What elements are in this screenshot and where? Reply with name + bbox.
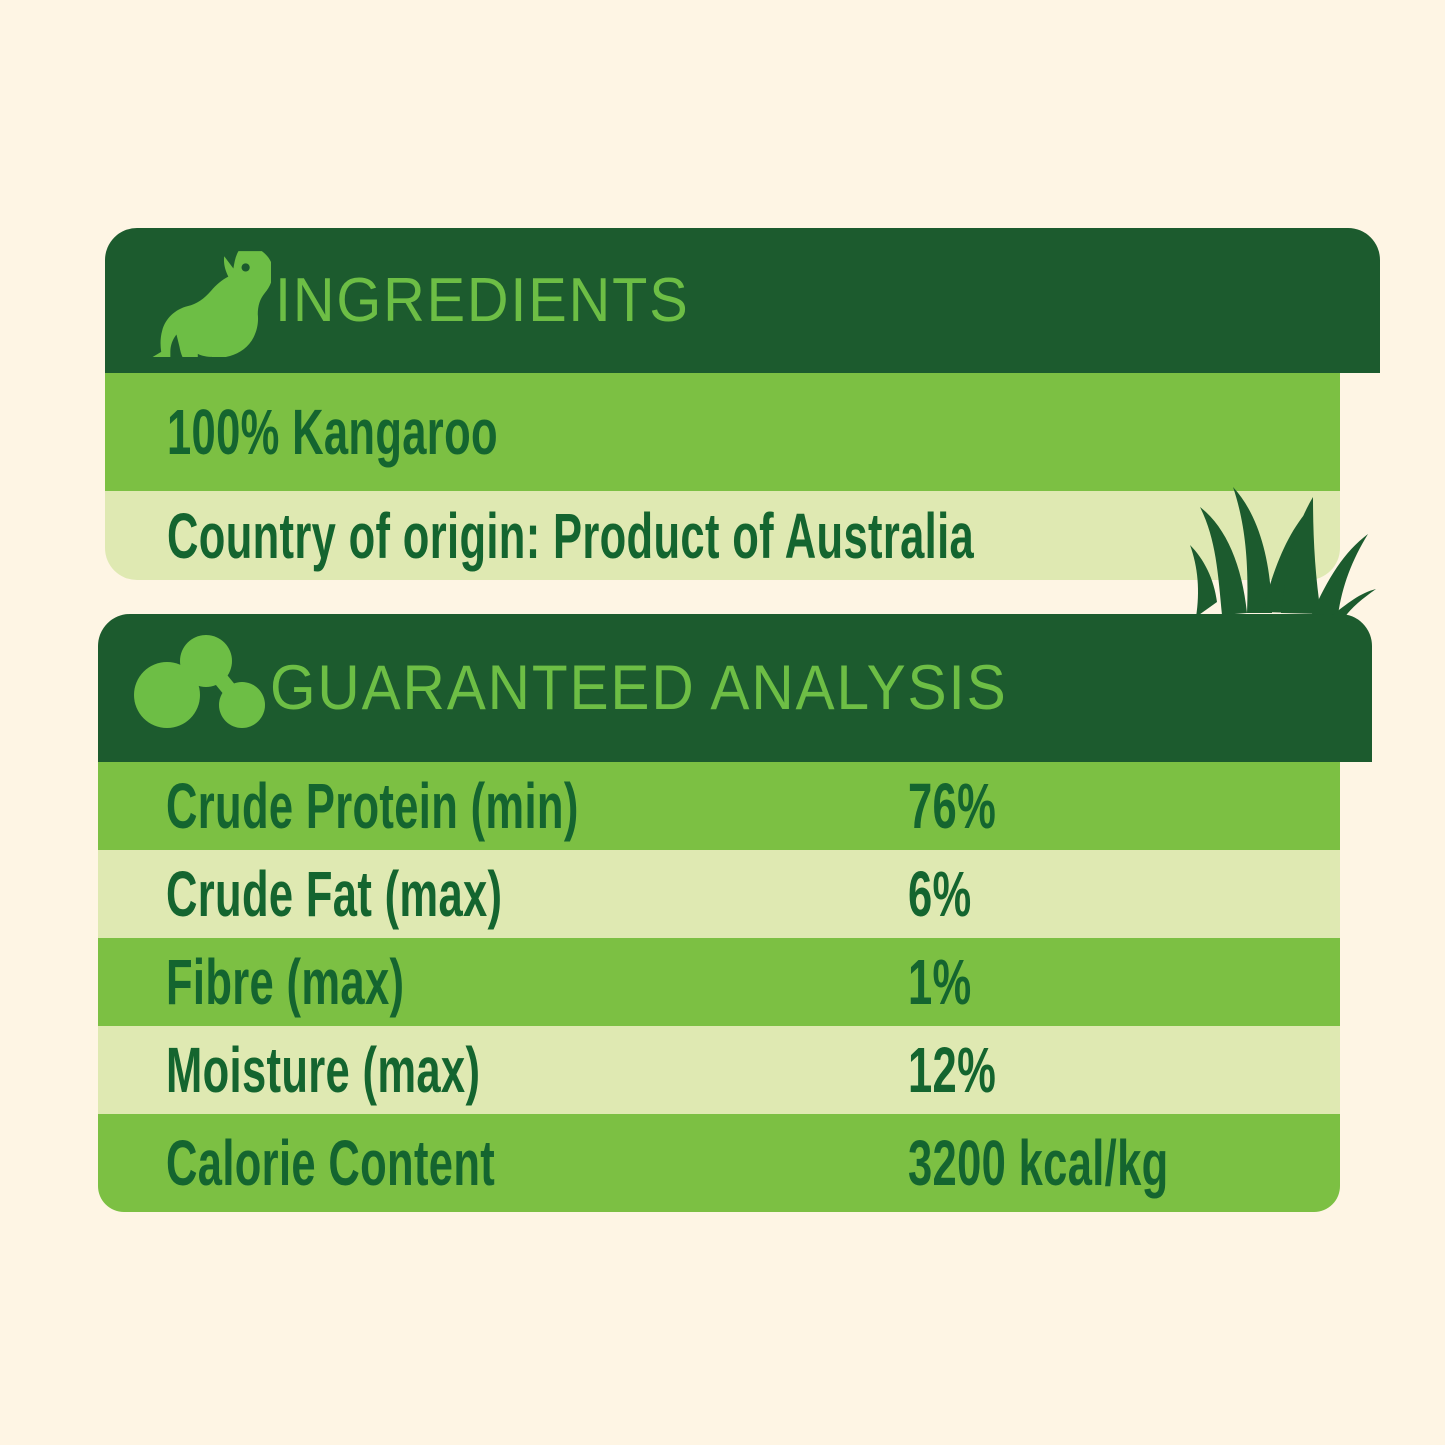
analysis-row-0-value: 76% <box>908 774 996 838</box>
analysis-row-0: Crude Protein (min) 76% <box>98 762 1340 850</box>
ingredients-header: INGREDIENTS <box>105 228 1380 373</box>
analysis-row-1: Crude Fat (max) 6% <box>98 850 1340 938</box>
ingredient-row-0-text: 100% Kangaroo <box>167 400 498 464</box>
ingredient-row-1-text: Country of origin: Product of Australia <box>167 504 974 568</box>
analysis-row-2-label: Fibre (max) <box>166 950 404 1014</box>
analysis-row-4-label: Calorie Content <box>166 1131 495 1195</box>
kangaroo-icon <box>145 241 275 361</box>
analysis-row-2-value: 1% <box>908 950 972 1014</box>
analysis-title: GUARANTEED ANALYSIS <box>270 652 1008 724</box>
ingredients-title: INGREDIENTS <box>275 265 690 336</box>
analysis-header: GUARANTEED ANALYSIS <box>98 614 1372 762</box>
molecule-icon <box>130 633 270 743</box>
analysis-row-4: Calorie Content 3200 kcal/kg <box>98 1114 1340 1212</box>
ingredient-row-0: 100% Kangaroo <box>105 373 1340 491</box>
pet-food-label: INGREDIENTS 100% Kangaroo Country of ori… <box>0 0 1445 1445</box>
analysis-row-1-value: 6% <box>908 862 972 926</box>
ingredient-row-1: Country of origin: Product of Australia <box>105 491 1340 580</box>
analysis-row-2: Fibre (max) 1% <box>98 938 1340 1026</box>
analysis-row-4-value: 3200 kcal/kg <box>908 1131 1169 1195</box>
analysis-row-3: Moisture (max) 12% <box>98 1026 1340 1114</box>
analysis-row-0-label: Crude Protein (min) <box>166 774 579 838</box>
analysis-row-3-label: Moisture (max) <box>166 1038 480 1102</box>
analysis-row-3-value: 12% <box>908 1038 996 1102</box>
analysis-row-1-label: Crude Fat (max) <box>166 862 502 926</box>
